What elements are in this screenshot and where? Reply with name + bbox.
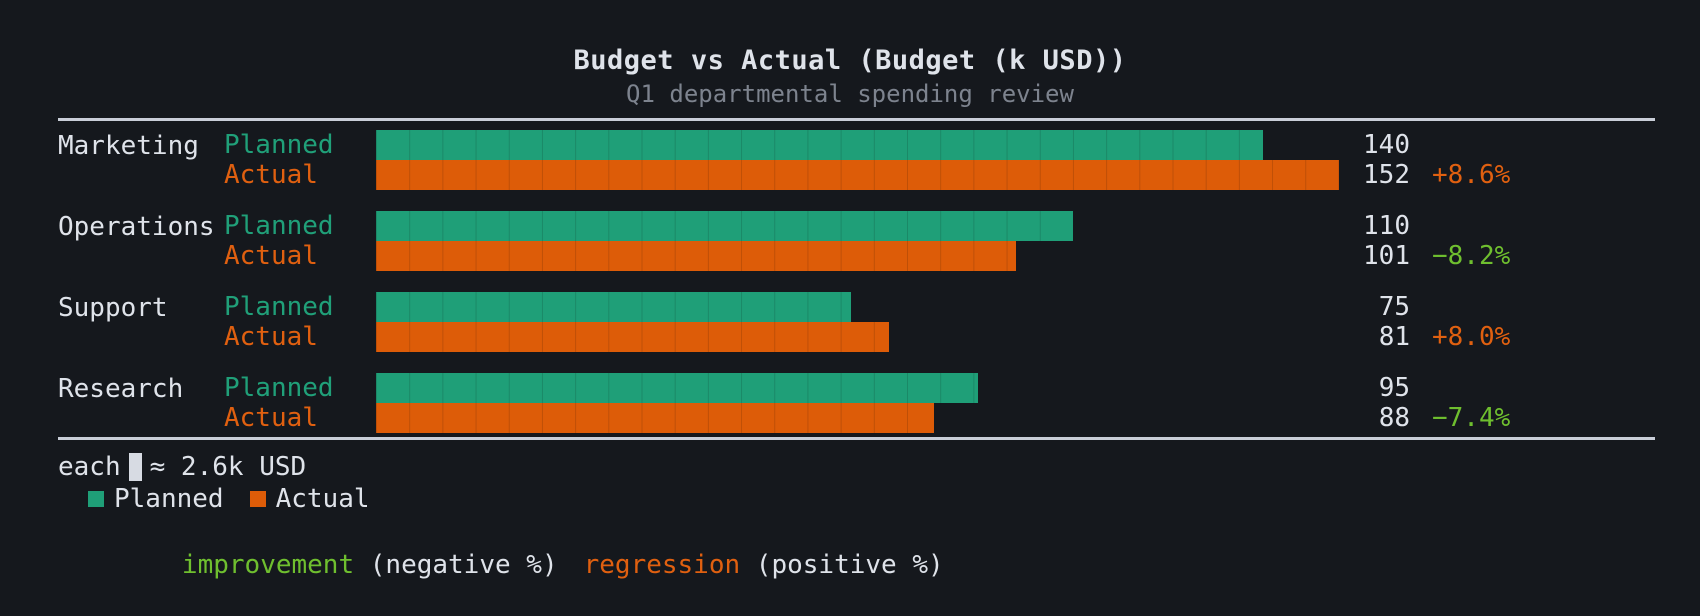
chart-title: Budget vs Actual (Budget (k USD)) <box>0 44 1700 78</box>
scale-block-icon <box>129 453 142 481</box>
chart-canvas: Budget vs Actual (Budget (k USD)) Q1 dep… <box>0 0 1700 616</box>
improvement-label: improvement <box>182 550 354 580</box>
table-row: Marketing Planned 140 Actual 152 +8.6% <box>0 128 1700 209</box>
regression-label: regression <box>584 550 741 580</box>
planned-swatch-icon <box>88 491 104 507</box>
bar-track-actual <box>376 322 889 352</box>
bar-track-actual <box>376 160 1339 190</box>
table-row: Research Planned 95 Actual 88 −7.4% <box>0 371 1700 452</box>
series-label-actual: Actual <box>224 401 364 435</box>
value-actual: 81 <box>1300 320 1410 354</box>
bar-track-actual <box>376 403 934 433</box>
bar-track-planned <box>376 130 1263 160</box>
value-actual: 88 <box>1300 401 1410 435</box>
value-planned: 95 <box>1300 371 1410 405</box>
scale-prefix-label: each <box>58 450 121 484</box>
bar-track-planned <box>376 211 1073 241</box>
bar-planned <box>376 130 1263 160</box>
delta-badge: +8.6% <box>1432 158 1602 192</box>
value-planned: 140 <box>1300 128 1410 162</box>
bar-planned <box>376 211 1073 241</box>
chart-subtitle: Q1 departmental spending review <box>0 78 1700 110</box>
table-row: Support Planned 75 Actual 81 +8.0% <box>0 290 1700 371</box>
improvement-note: (negative %) <box>354 550 558 580</box>
value-actual: 152 <box>1300 158 1410 192</box>
delta-badge: +8.0% <box>1432 320 1602 354</box>
series-row-actual: Actual 152 +8.6% <box>0 158 1700 194</box>
top-rule <box>58 118 1655 121</box>
bar-actual <box>376 322 889 352</box>
bar-track-planned <box>376 373 978 403</box>
series-label-actual: Actual <box>224 320 364 354</box>
series-label-actual: Actual <box>224 239 364 273</box>
bar-actual <box>376 160 1339 190</box>
bar-track-planned <box>376 292 851 322</box>
value-actual: 101 <box>1300 239 1410 273</box>
series-row-actual: Actual 101 −8.2% <box>0 239 1700 275</box>
legend-label-planned: Planned <box>114 482 224 516</box>
series-label-planned: Planned <box>224 128 364 162</box>
table-row: Operations Planned 110 Actual 101 −8.2% <box>0 209 1700 290</box>
bar-planned <box>376 292 851 322</box>
legend-label-actual: Actual <box>276 482 370 516</box>
scale-note: each ≈ 2.6k USD <box>58 450 306 484</box>
bar-actual <box>376 403 934 433</box>
series-row-actual: Actual 88 −7.4% <box>0 401 1700 437</box>
delta-badge: −7.4% <box>1432 401 1602 435</box>
scale-suffix-label: ≈ 2.6k USD <box>150 450 307 484</box>
delta-legend: improvement (negative %)regression (posi… <box>88 514 944 616</box>
delta-badge: −8.2% <box>1432 239 1602 273</box>
bar-planned <box>376 373 978 403</box>
regression-note: (positive %) <box>740 550 944 580</box>
bar-rows: Marketing Planned 140 Actual 152 +8.6% O… <box>0 128 1700 452</box>
series-legend: Planned Actual <box>88 482 370 516</box>
value-planned: 110 <box>1300 209 1410 243</box>
series-label-planned: Planned <box>224 371 364 405</box>
series-label-planned: Planned <box>224 290 364 324</box>
actual-swatch-icon <box>250 491 266 507</box>
series-label-planned: Planned <box>224 209 364 243</box>
bar-track-actual <box>376 241 1016 271</box>
series-row-actual: Actual 81 +8.0% <box>0 320 1700 356</box>
bar-actual <box>376 241 1016 271</box>
series-label-actual: Actual <box>224 158 364 192</box>
value-planned: 75 <box>1300 290 1410 324</box>
title-block: Budget vs Actual (Budget (k USD)) Q1 dep… <box>0 44 1700 110</box>
